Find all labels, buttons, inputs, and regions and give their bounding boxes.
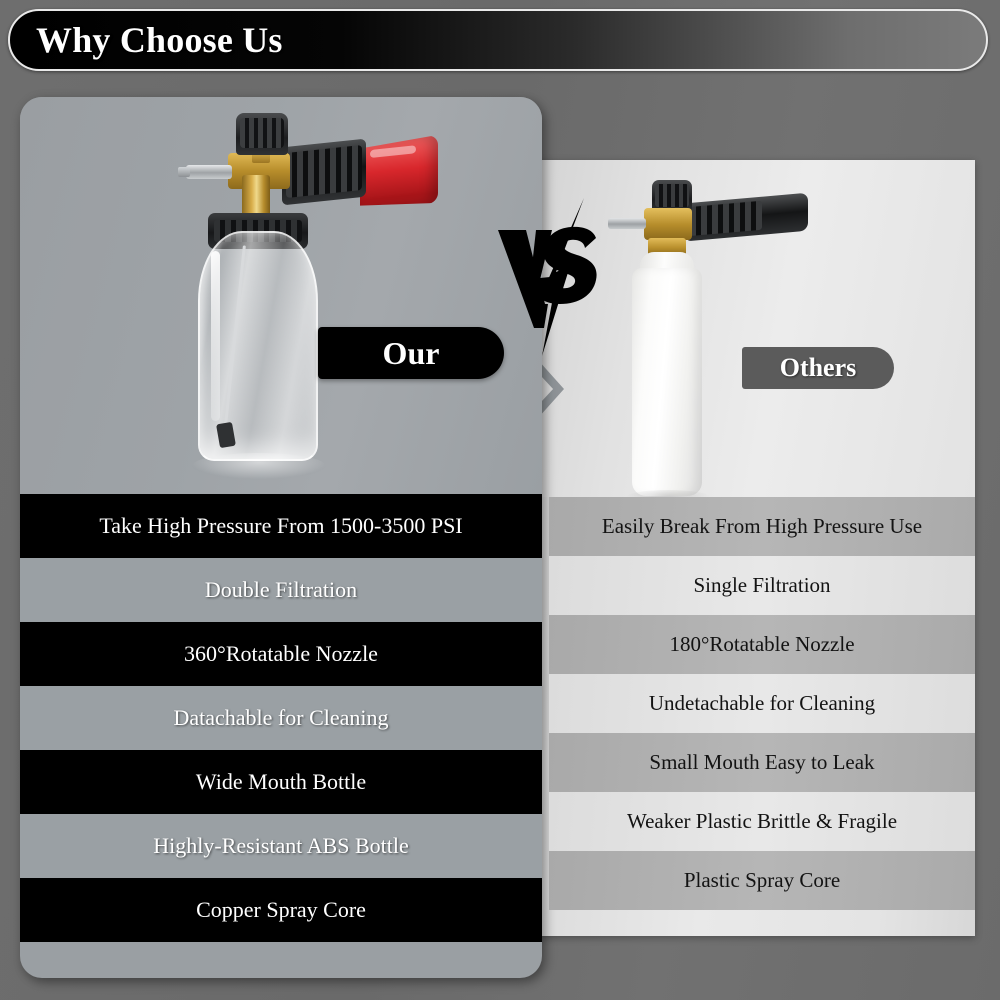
our-feature-row-6: Highly-Resistant ABS Bottle — [20, 814, 542, 878]
others-feature-list: Easily Break From High Pressure Use Sing… — [549, 497, 975, 910]
our-feature-list: Take High Pressure From 1500-3500 PSI Do… — [20, 494, 542, 942]
others-nozzle-icon — [686, 193, 808, 242]
our-knob-icon — [236, 113, 288, 155]
our-bottle-shadow — [192, 453, 326, 479]
others-badge-label: Others — [780, 353, 857, 383]
others-feature-row-7: Plastic Spray Core — [549, 851, 975, 910]
vs-divider — [492, 196, 632, 368]
our-product-photo — [20, 97, 542, 494]
others-badge: Others — [742, 347, 894, 389]
our-feature-row-5: Wide Mouth Bottle — [20, 750, 542, 814]
our-feature-row-4: Datachable for Cleaning — [20, 686, 542, 750]
others-brass-fitting-icon — [644, 208, 692, 240]
others-feature-row-1: Easily Break From High Pressure Use — [549, 497, 975, 556]
others-feature-row-3: 180°Rotatable Nozzle — [549, 615, 975, 674]
our-quick-connect-icon — [186, 165, 232, 179]
page-header-banner: Why Choose Us — [8, 9, 988, 71]
others-feature-row-6: Weaker Plastic Brittle & Fragile — [549, 792, 975, 851]
page-title: Why Choose Us — [36, 19, 283, 61]
our-feature-row-1: Take High Pressure From 1500-3500 PSI — [20, 494, 542, 558]
our-feature-row-3: 360°Rotatable Nozzle — [20, 622, 542, 686]
our-badge-label: Our — [383, 335, 440, 372]
others-product-illustration — [600, 180, 900, 500]
vs-lightning-icon — [492, 196, 632, 368]
our-feature-row-2: Double Filtration — [20, 558, 542, 622]
our-feature-row-7: Copper Spray Core — [20, 878, 542, 942]
others-bottle — [632, 268, 702, 496]
our-black-nozzle-icon — [282, 139, 366, 206]
infographic-canvas: Why Choose Us — [0, 0, 1000, 1000]
others-feature-row-2: Single Filtration — [549, 556, 975, 615]
others-feature-row-4: Undetachable for Cleaning — [549, 674, 975, 733]
others-feature-row-5: Small Mouth Easy to Leak — [549, 733, 975, 792]
our-badge: Our — [318, 327, 504, 379]
our-red-nozzle-icon — [360, 135, 438, 211]
our-product-illustration — [170, 113, 470, 493]
